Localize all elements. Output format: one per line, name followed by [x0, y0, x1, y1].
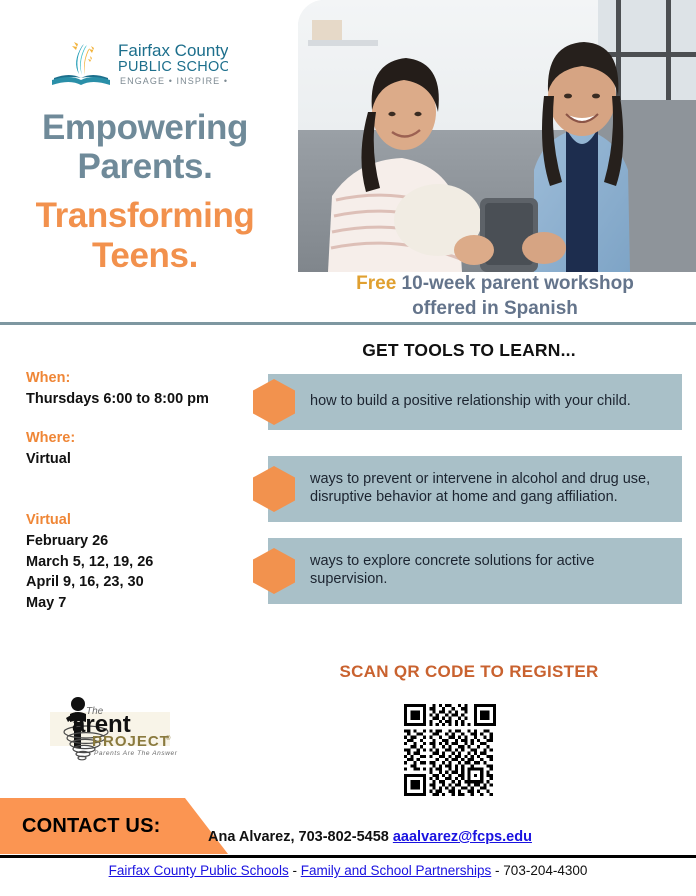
svg-text:PUBLIC SCHOOLS: PUBLIC SCHOOLS [118, 59, 228, 75]
scan-qr-heading: SCAN QR CODE TO REGISTER [256, 662, 682, 682]
fcps-logo: Fairfax County PUBLIC SCHOOLS ENGAGE • I… [48, 36, 228, 96]
qr-code-graphic [404, 704, 496, 796]
headline: Empowering Parents. Transforming Teens. [0, 108, 290, 275]
when-block: When: Thursdays 6:00 to 8:00 pm [26, 368, 256, 410]
subtitle-line-2: offered in Spanish [300, 297, 690, 322]
bottom-divider [0, 855, 696, 858]
svg-text:Fairfax County: Fairfax County [118, 41, 228, 60]
contact-name-phone: Ana Alvarez, 703-802-5458 [208, 829, 393, 845]
fcps-logo-graphic: Fairfax County PUBLIC SCHOOLS ENGAGE • I… [48, 36, 228, 96]
headline-line-3: Transforming [0, 196, 290, 235]
date-line: February 26 [26, 531, 256, 552]
hexagon-marker-icon [253, 379, 295, 425]
where-label: Where: [26, 428, 256, 449]
headline-line-2: Parents. [0, 147, 290, 186]
dates-label: Virtual [26, 510, 256, 531]
svg-text:PROJECT: PROJECT [92, 733, 170, 750]
bullet-panel-1: how to build a positive relationship wit… [268, 374, 682, 430]
hero-photo [298, 0, 696, 272]
flame-book-emblem [52, 42, 110, 85]
date-line: May 7 [26, 593, 256, 614]
headline-line-1: Empowering [0, 108, 290, 147]
registration-qr-code[interactable] [404, 704, 496, 796]
workshop-subtitle: Free 10-week parent workshop offered in … [300, 272, 690, 321]
bullet-panel-3: ways to explore concrete solutions for a… [268, 538, 682, 604]
parent-project-logo: The arent PROJECT ® Parents Are The Answ… [42, 688, 192, 768]
footer-line: Fairfax County Public Schools - Family a… [0, 863, 696, 878]
tools-heading: GET TOOLS TO LEARN... [256, 340, 682, 361]
mother-and-teen-photo [298, 0, 696, 272]
when-label: When: [26, 368, 256, 389]
footer-separator-1: - [289, 863, 301, 878]
hexagon-marker-icon [253, 466, 295, 512]
hexagon-marker-icon [253, 548, 295, 594]
free-word: Free [356, 273, 396, 294]
date-line: April 9, 16, 23, 30 [26, 572, 256, 593]
bullet-text-3: ways to explore concrete solutions for a… [310, 553, 668, 588]
parent-project-logo-graphic: The arent PROJECT ® Parents Are The Answ… [42, 688, 192, 768]
where-block: Where: Virtual [26, 428, 256, 470]
svg-text:Parents Are The Answer: Parents Are The Answer [94, 750, 178, 757]
subtitle-line-1: Free 10-week parent workshop [300, 272, 690, 297]
footer-link-partnerships[interactable]: Family and School Partnerships [301, 863, 492, 878]
dates-block: Virtual February 26 March 5, 12, 19, 26 … [26, 510, 256, 613]
contact-us-label: CONTACT US: [22, 815, 160, 838]
top-divider [0, 322, 696, 325]
info-column: When: Thursdays 6:00 to 8:00 pm Where: V… [26, 368, 256, 613]
contact-banner: CONTACT US: [0, 798, 228, 854]
svg-text:®: ® [166, 735, 171, 742]
where-value: Virtual [26, 449, 256, 470]
footer-separator-2: - [491, 863, 503, 878]
bullet-text-1: how to build a positive relationship wit… [310, 393, 631, 411]
svg-text:ENGAGE • INSPIRE • THRIVE: ENGAGE • INSPIRE • THRIVE [120, 76, 228, 86]
date-line: March 5, 12, 19, 26 [26, 552, 256, 573]
contact-email-link[interactable]: aaalvarez@fcps.edu [393, 829, 532, 845]
footer-phone: 703-204-4300 [503, 863, 587, 878]
bullet-panel-2: ways to prevent or intervene in alcohol … [268, 456, 682, 522]
subtitle-rest: 10-week parent workshop [396, 273, 634, 294]
when-value: Thursdays 6:00 to 8:00 pm [26, 389, 256, 410]
headline-line-4: Teens. [0, 236, 290, 275]
footer-link-fcps[interactable]: Fairfax County Public Schools [109, 863, 289, 878]
bullet-text-2: ways to prevent or intervene in alcohol … [310, 471, 668, 506]
contact-line: Ana Alvarez, 703-802-5458 aaalvarez@fcps… [208, 829, 532, 845]
